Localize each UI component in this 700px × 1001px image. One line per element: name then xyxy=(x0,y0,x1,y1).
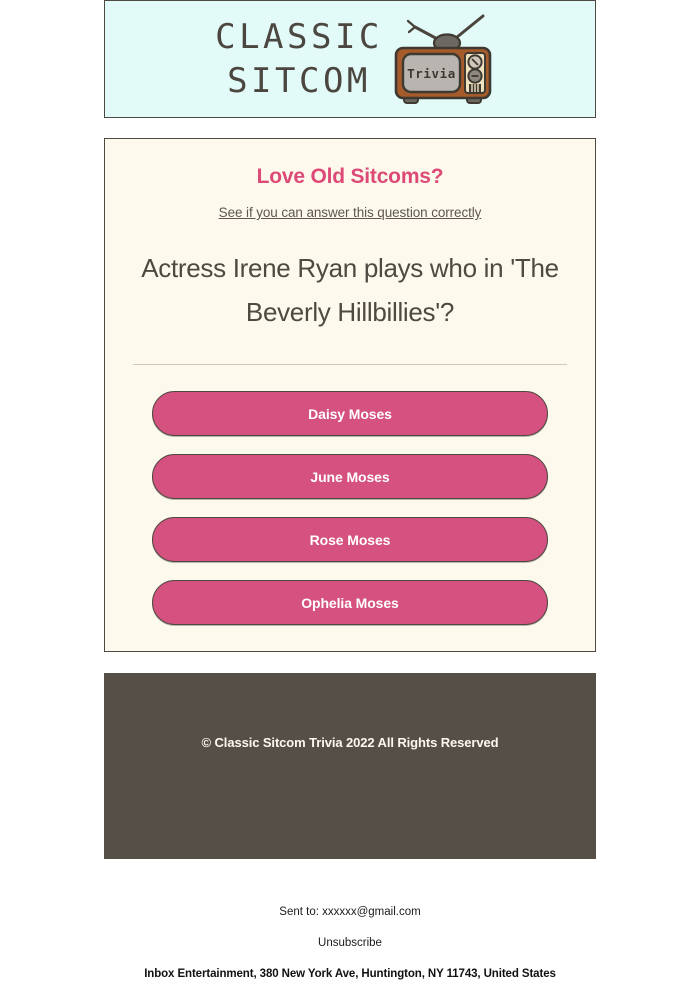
unsubscribe-link[interactable]: Unsubscribe xyxy=(318,937,382,949)
quiz-heading: Love Old Sitcoms? xyxy=(257,165,444,189)
brand-wordmark: CLASSIC SITCOM xyxy=(215,15,383,103)
brand-wordmark-line1: CLASSIC xyxy=(215,17,383,57)
footer-bar: © Classic Sitcom Trivia 2022 All Rights … xyxy=(104,673,596,859)
quiz-card: Love Old Sitcoms? See if you can answer … xyxy=(104,138,596,652)
quiz-subheading-link[interactable]: See if you can answer this question corr… xyxy=(219,205,482,220)
retro-tv-icon: Trivia xyxy=(391,10,499,115)
answer-button-1[interactable]: Daisy Moses xyxy=(152,391,548,436)
svg-text:Trivia: Trivia xyxy=(407,66,456,81)
email-body: CLASSIC SITCOM xyxy=(0,0,700,1001)
brand-inner: CLASSIC SITCOM xyxy=(105,4,595,115)
email-meta: Sent to: xxxxxx@gmail.com Unsubscribe In… xyxy=(104,906,596,980)
answer-button-2[interactable]: June Moses xyxy=(152,454,548,499)
answer-options-list: Daisy Moses June Moses Rose Moses Opheli… xyxy=(133,391,567,625)
sender-address: Inbox Entertainment, 380 New York Ave, H… xyxy=(144,968,556,980)
answer-button-4[interactable]: Ophelia Moses xyxy=(152,580,548,625)
footer-copyright: © Classic Sitcom Trivia 2022 All Rights … xyxy=(202,735,499,859)
sent-to-text: Sent to: xxxxxx@gmail.com xyxy=(279,906,420,918)
brand-wordmark-line2: SITCOM xyxy=(227,61,371,101)
answer-button-3[interactable]: Rose Moses xyxy=(152,517,548,562)
card-divider xyxy=(133,364,567,365)
quiz-question: Actress Irene Ryan plays who in 'The Bev… xyxy=(133,246,567,334)
brand-banner: CLASSIC SITCOM xyxy=(104,0,596,118)
